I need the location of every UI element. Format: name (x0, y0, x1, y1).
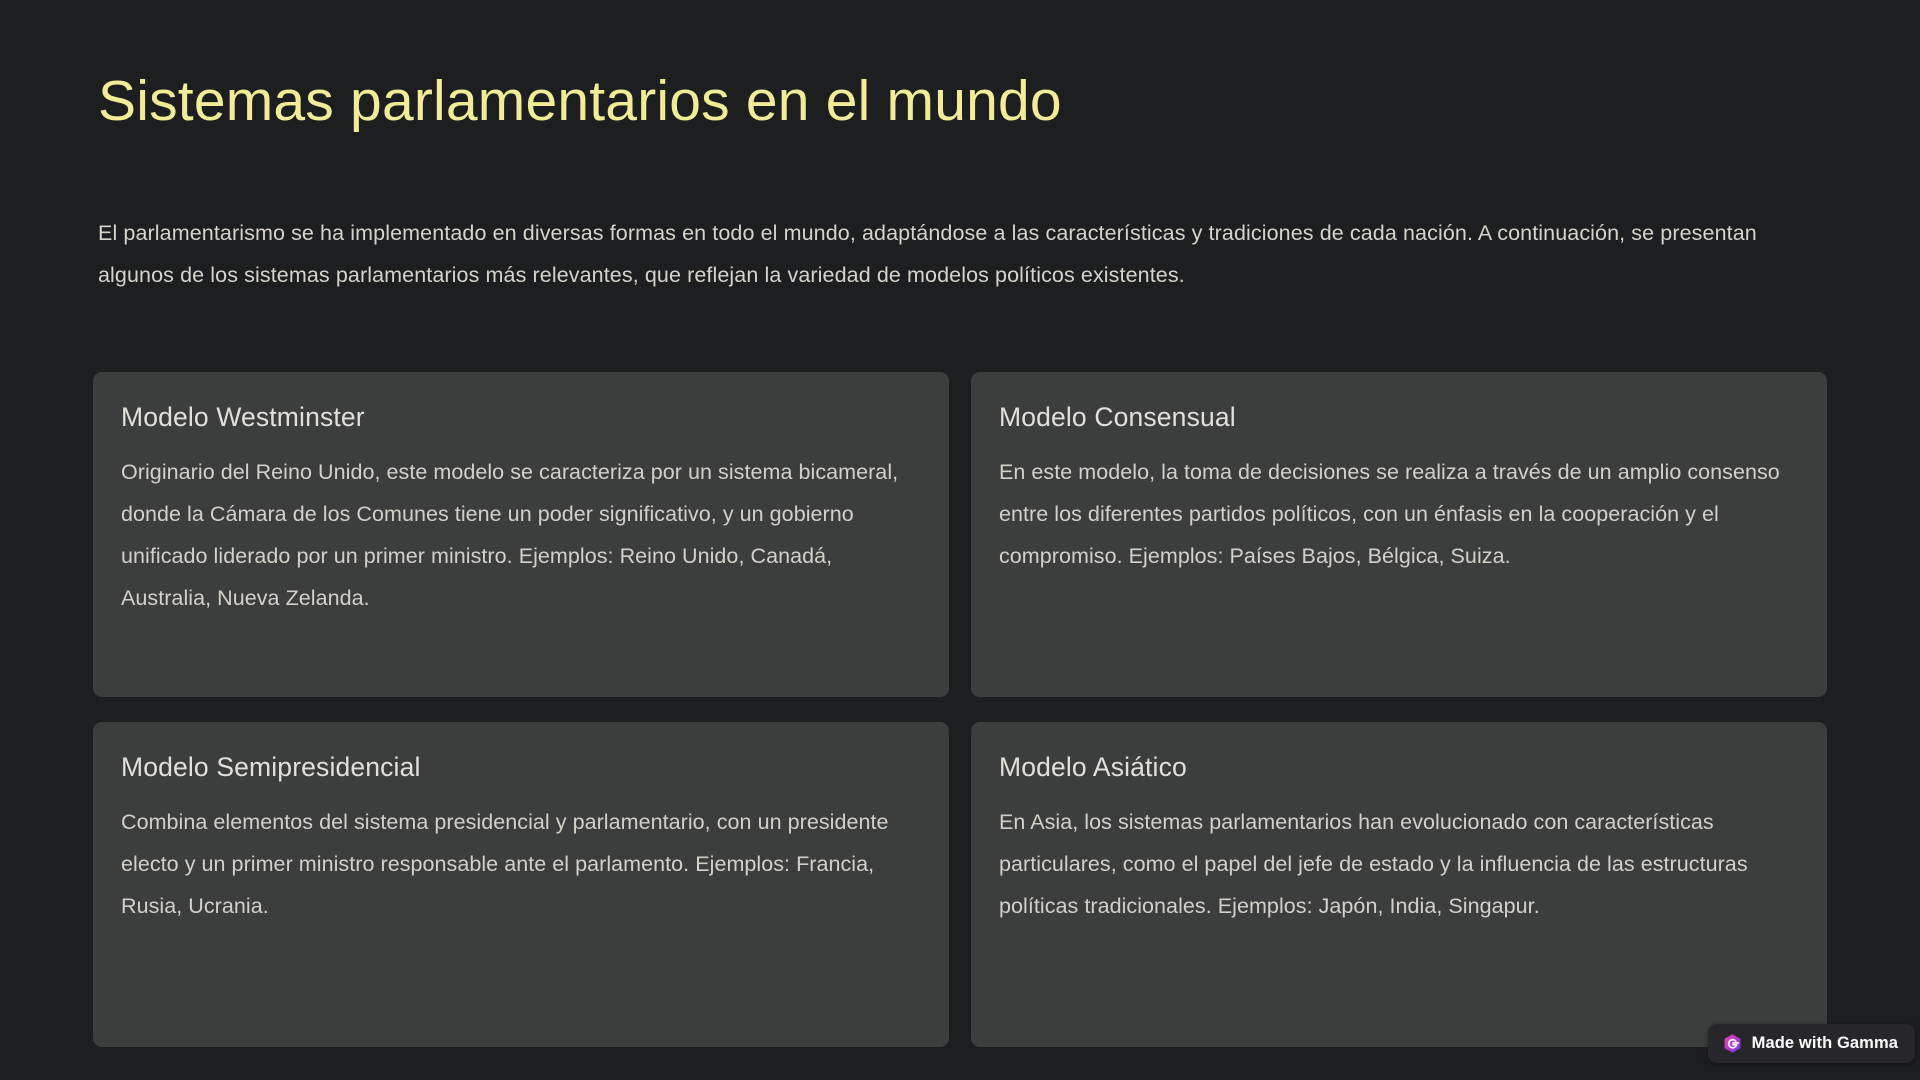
card-body: Combina elementos del sistema presidenci… (121, 801, 921, 927)
card-body: Originario del Reino Unido, este modelo … (121, 451, 921, 619)
card-title: Modelo Consensual (999, 400, 1799, 434)
card-modelo-westminster[interactable]: Modelo Westminster Originario del Reino … (93, 372, 949, 697)
gamma-hexagon-logo-icon (1722, 1033, 1743, 1054)
card-body: En Asia, los sistemas parlamentarios han… (999, 801, 1799, 927)
made-with-gamma-badge[interactable]: Made with Gamma (1708, 1024, 1915, 1063)
card-title: Modelo Semipresidencial (121, 750, 921, 784)
model-card-grid: Modelo Westminster Originario del Reino … (93, 372, 1827, 1047)
card-body: En este modelo, la toma de decisiones se… (999, 451, 1799, 577)
intro-paragraph: El parlamentarismo se ha implementado en… (98, 212, 1828, 296)
card-modelo-asiatico[interactable]: Modelo Asiático En Asia, los sistemas pa… (971, 722, 1827, 1047)
page-title: Sistemas parlamentarios en el mundo (98, 68, 1062, 135)
slide-root: Sistemas parlamentarios en el mundo El p… (0, 0, 1920, 1080)
card-title: Modelo Asiático (999, 750, 1799, 784)
made-with-gamma-label: Made with Gamma (1752, 1034, 1898, 1053)
card-modelo-consensual[interactable]: Modelo Consensual En este modelo, la tom… (971, 372, 1827, 697)
card-modelo-semipresidencial[interactable]: Modelo Semipresidencial Combina elemento… (93, 722, 949, 1047)
card-title: Modelo Westminster (121, 400, 921, 434)
